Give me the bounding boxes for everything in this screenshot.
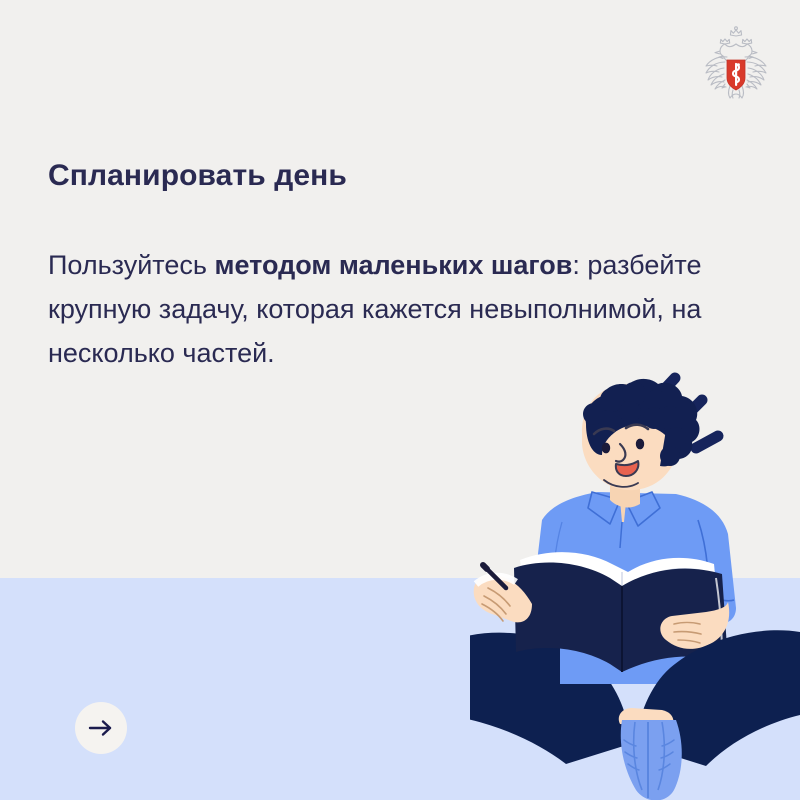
page-title: Спланировать день xyxy=(48,158,347,194)
body-bold-phrase: методом маленьких шагов xyxy=(214,250,572,280)
next-slide-button[interactable] xyxy=(75,702,127,754)
illustration-man-reading-book xyxy=(470,372,800,800)
ministry-emblem-icon xyxy=(694,22,778,106)
body-paragraph: Пользуйтесь методом маленьких шагов: раз… xyxy=(48,243,760,375)
slide-canvas: Спланировать день Пользуйтесь методом ма… xyxy=(0,0,800,800)
arrow-right-icon xyxy=(88,719,114,737)
body-lead: Пользуйтесь xyxy=(48,250,214,280)
